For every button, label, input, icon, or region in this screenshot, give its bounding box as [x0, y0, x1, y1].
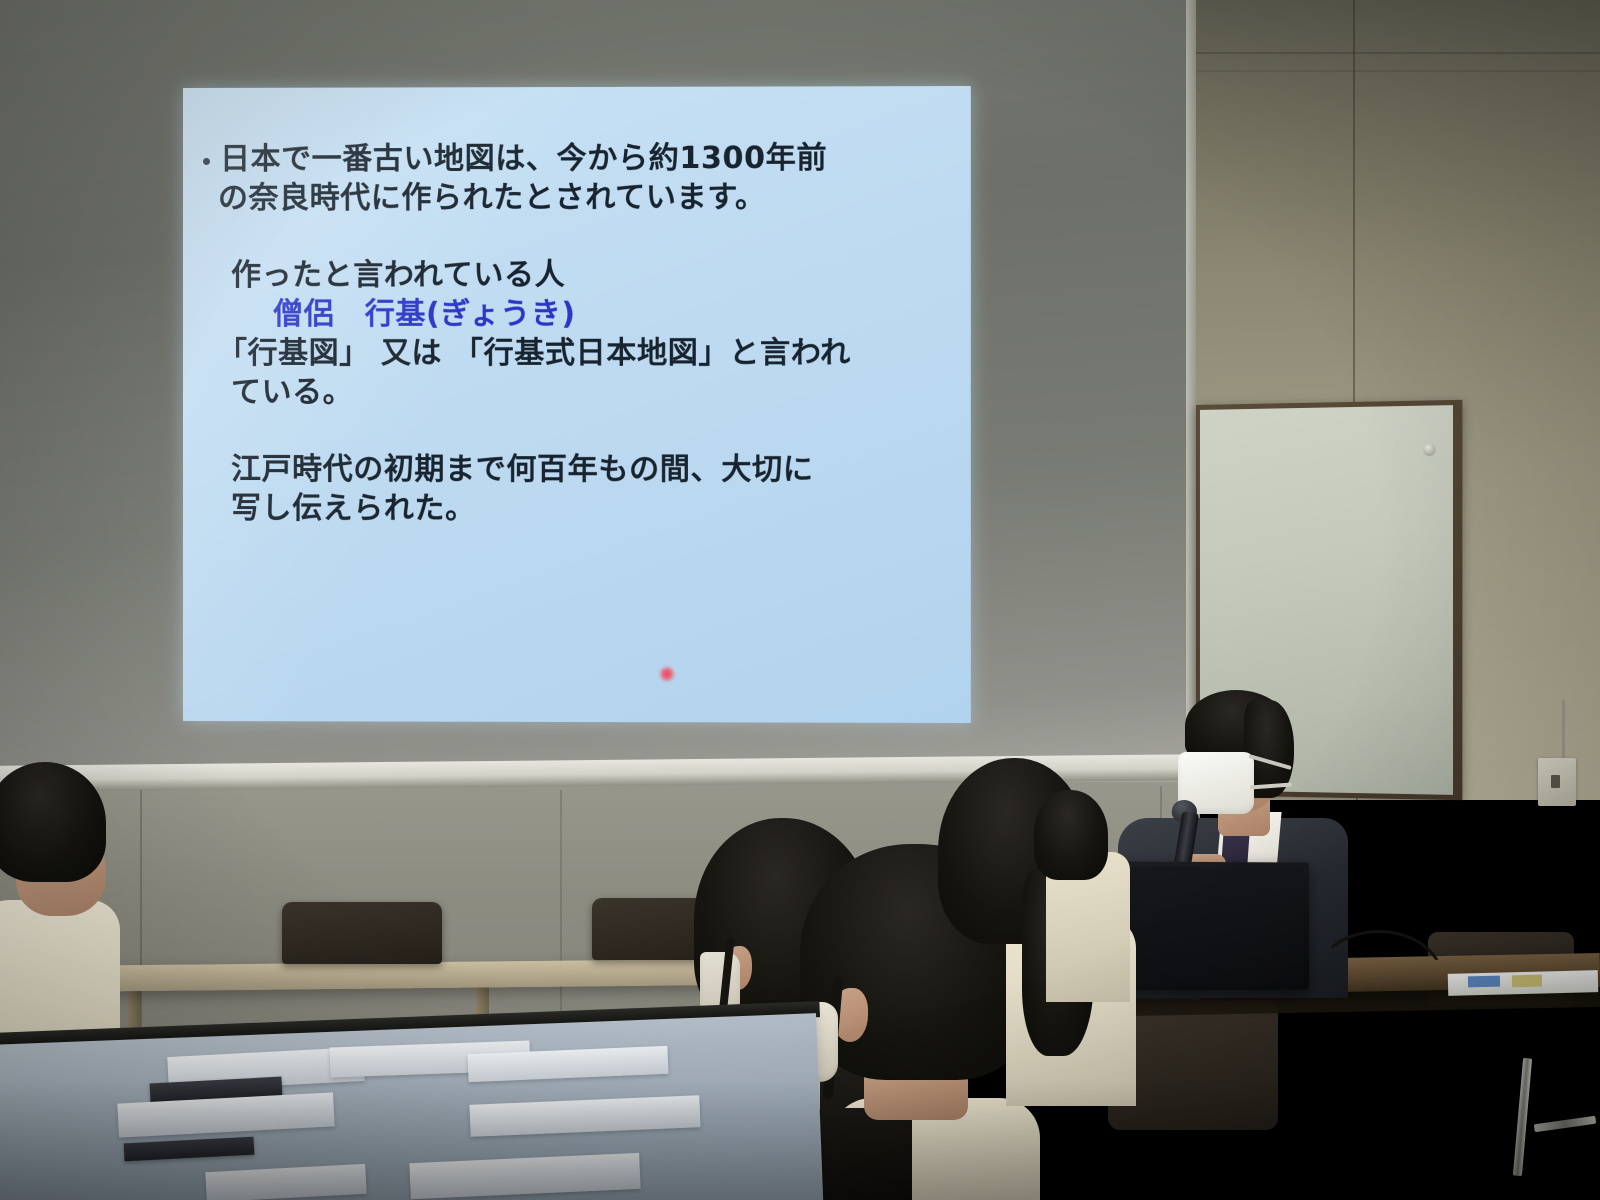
chair	[282, 902, 442, 964]
room-photo-scene: 日本で一番古い地図は、今から約1300年前 の奈良時代に作られたとされています。…	[0, 0, 1600, 1200]
document-yellow-marking	[1512, 975, 1542, 988]
audience-hair	[1034, 790, 1108, 880]
slide-bullet-line: 日本で一番古い地図は、今から約1300年前 の奈良時代に作られたとされています。	[203, 138, 957, 218]
slide-spacer	[203, 217, 957, 256]
slide-line-1: 日本で一番古い地図は、今から約1300年前	[220, 139, 827, 179]
slide-line-7: 江戸時代の初期まで何百年もの間、大切に	[203, 450, 957, 490]
slide-line-2: の奈良時代に作られたとされています。	[218, 178, 827, 218]
slide-line-8: 写し伝えられた。	[203, 489, 957, 529]
wall-panel-seam	[1196, 70, 1600, 72]
wall-panel-seam	[1196, 52, 1600, 54]
slide-spacer	[203, 412, 957, 450]
slide-line-6: ている。	[203, 373, 957, 412]
slide-line-5: 「行基図」 又は 「行基式日本地図」と言われ	[203, 334, 957, 373]
chair-leg	[1534, 1116, 1597, 1133]
wall-panel-seam	[1353, 0, 1355, 410]
document-blue-marking	[1468, 976, 1500, 988]
slide-line-4: 僧侶 行基(ぎょうき)	[203, 294, 957, 334]
laptop-screen	[1108, 867, 1304, 985]
bullet-icon	[203, 158, 210, 165]
laser-pointer-dot	[659, 666, 675, 682]
chair-leg	[1513, 1058, 1532, 1176]
lower-wall-seam	[560, 790, 562, 1040]
outlet-cable	[1562, 700, 1565, 762]
projected-slide: 日本で一番古い地図は、今から約1300年前 の奈良時代に作られたとされています。…	[183, 86, 971, 723]
slide-line-3: 作ったと言われている人	[203, 255, 957, 295]
wall-outlet	[1538, 758, 1576, 806]
wall-corner-edge	[1186, 0, 1196, 800]
slide-content: 日本で一番古い地図は、今から約1300年前 の奈良時代に作られたとされています。…	[203, 138, 957, 528]
